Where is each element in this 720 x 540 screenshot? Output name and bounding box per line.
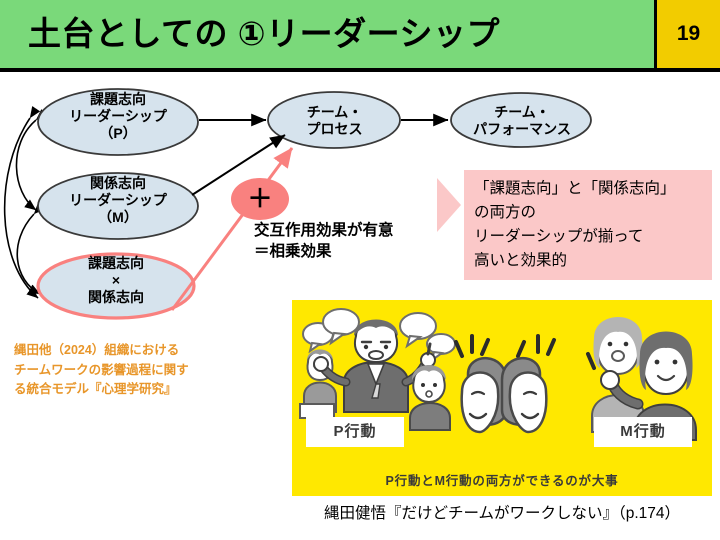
page-number: 19 [657, 0, 720, 68]
book-citation: 縄田健悟『だけどチームがワークしない』（p.174） [292, 503, 712, 525]
interaction-effect-caption: 交互作用効果が有意 ＝相乗効果 [254, 220, 394, 262]
conclusion-callout: 「課題志向」と「関係志向」 の両方の リーダーシップが揃って 高いと効果的 [464, 170, 712, 280]
p-behavior-badge: P行動 [306, 417, 404, 447]
plus-marker-circle [231, 178, 289, 220]
illustration-panel: P行動 M行動 P行動とM行動の両方ができるのが大事 [292, 300, 712, 496]
node-relation-leadership[interactable] [38, 173, 198, 239]
facing-heads [462, 358, 547, 432]
node-task-leadership[interactable] [38, 89, 198, 155]
source-citation: 縄田他（2024）組織における チームワークの影響過程に関す る統合モデル『心理… [14, 341, 246, 400]
node-interaction[interactable] [38, 254, 194, 318]
illustration-caption: P行動とM行動の両方ができるのが大事 [292, 470, 712, 489]
node-team-performance[interactable] [451, 93, 591, 147]
edge-correlation-m-int [17, 214, 40, 294]
m-behavior-badge: M行動 [594, 417, 692, 447]
conclusion-callout-text: 「課題志向」と「関係志向」 の両方の リーダーシップが揃って 高いと効果的 [474, 177, 712, 273]
callout-arrow-icon [437, 178, 461, 232]
person-left-listener [410, 365, 450, 430]
slide-title: 土台としての ①リーダーシップ [28, 8, 628, 60]
page-number-box: 19 [654, 0, 720, 68]
sparkle-marks [456, 336, 554, 356]
node-team-process[interactable] [268, 92, 400, 148]
edge-correlation-p-m [16, 120, 36, 210]
